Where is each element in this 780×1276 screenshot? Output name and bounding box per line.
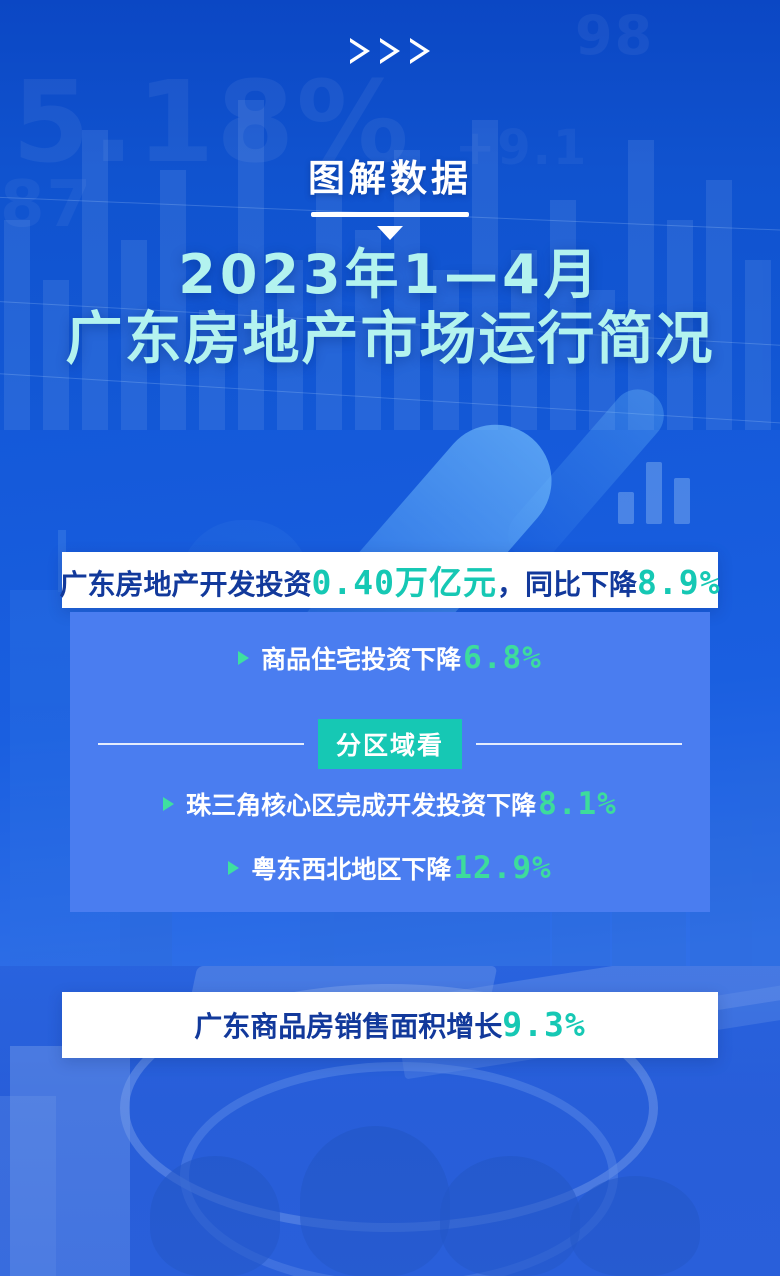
play-triangle-icon — [410, 38, 430, 64]
infographic-poster: 5.18% 98 87 +9.1 图解数 — [0, 0, 780, 1276]
detail-row-value: 6.8% — [463, 640, 542, 676]
play-triangles-row — [0, 38, 780, 64]
detail-row-residential: 商品住宅投资下降 6.8% — [0, 640, 780, 676]
poster-content: 图解数据 2023年1—4月 广东房地产市场运行简况 广东房地产开发投资0.40… — [0, 0, 780, 1276]
triangle-bullet-icon — [163, 797, 174, 811]
banner-sales-area: 广东商品房销售面积增长9.3% — [62, 992, 718, 1058]
detail-row-value: 8.1% — [538, 786, 617, 822]
kicker-underline — [311, 212, 469, 217]
banner-bottom-text: 广东商品房销售面积增长9.3% — [194, 1005, 586, 1045]
detail-row-east-west-north: 粤东西北地区下降 12.9% — [0, 850, 780, 886]
detail-row-prd-core: 珠三角核心区完成开发投资下降 8.1% — [0, 786, 780, 822]
detail-row-label: 粤东西北地区下降 — [251, 850, 451, 886]
caret-down-icon — [377, 226, 403, 240]
page-title: 2023年1—4月 广东房地产市场运行简况 — [0, 246, 780, 370]
section-divider: 分区域看 — [98, 722, 682, 766]
kicker-label: 图解数据 — [308, 148, 472, 202]
triangle-bullet-icon — [228, 861, 239, 875]
banner-top-middle: ，同比下降 — [497, 568, 637, 601]
banner-investment-total: 广东房地产开发投资0.40万亿元，同比下降8.9% — [62, 552, 718, 608]
title-line-1: 2023年1—4月 — [0, 246, 780, 303]
banner-bottom-value: 9.3% — [502, 1005, 585, 1044]
play-triangle-icon — [350, 38, 370, 64]
divider-line-left — [98, 743, 304, 745]
section-badge-region: 分区域看 — [318, 719, 462, 769]
banner-top-value-2: 8.9% — [637, 563, 720, 602]
detail-row-label: 珠三角核心区完成开发投资下降 — [186, 786, 536, 822]
detail-row-label: 商品住宅投资下降 — [261, 640, 461, 676]
kicker-block: 图解数据 — [0, 148, 780, 240]
triangle-bullet-icon — [238, 651, 249, 665]
detail-row-value: 12.9% — [453, 850, 551, 886]
divider-line-right — [476, 743, 682, 745]
banner-top-value: 0.40万亿元 — [312, 563, 497, 602]
banner-top-text: 广东房地产开发投资0.40万亿元，同比下降8.9% — [60, 556, 721, 604]
banner-bottom-prefix: 广东商品房销售面积增长 — [194, 1010, 502, 1043]
banner-top-prefix: 广东房地产开发投资 — [60, 568, 312, 601]
title-line-2: 广东房地产市场运行简况 — [0, 309, 780, 369]
play-triangle-icon — [380, 38, 400, 64]
